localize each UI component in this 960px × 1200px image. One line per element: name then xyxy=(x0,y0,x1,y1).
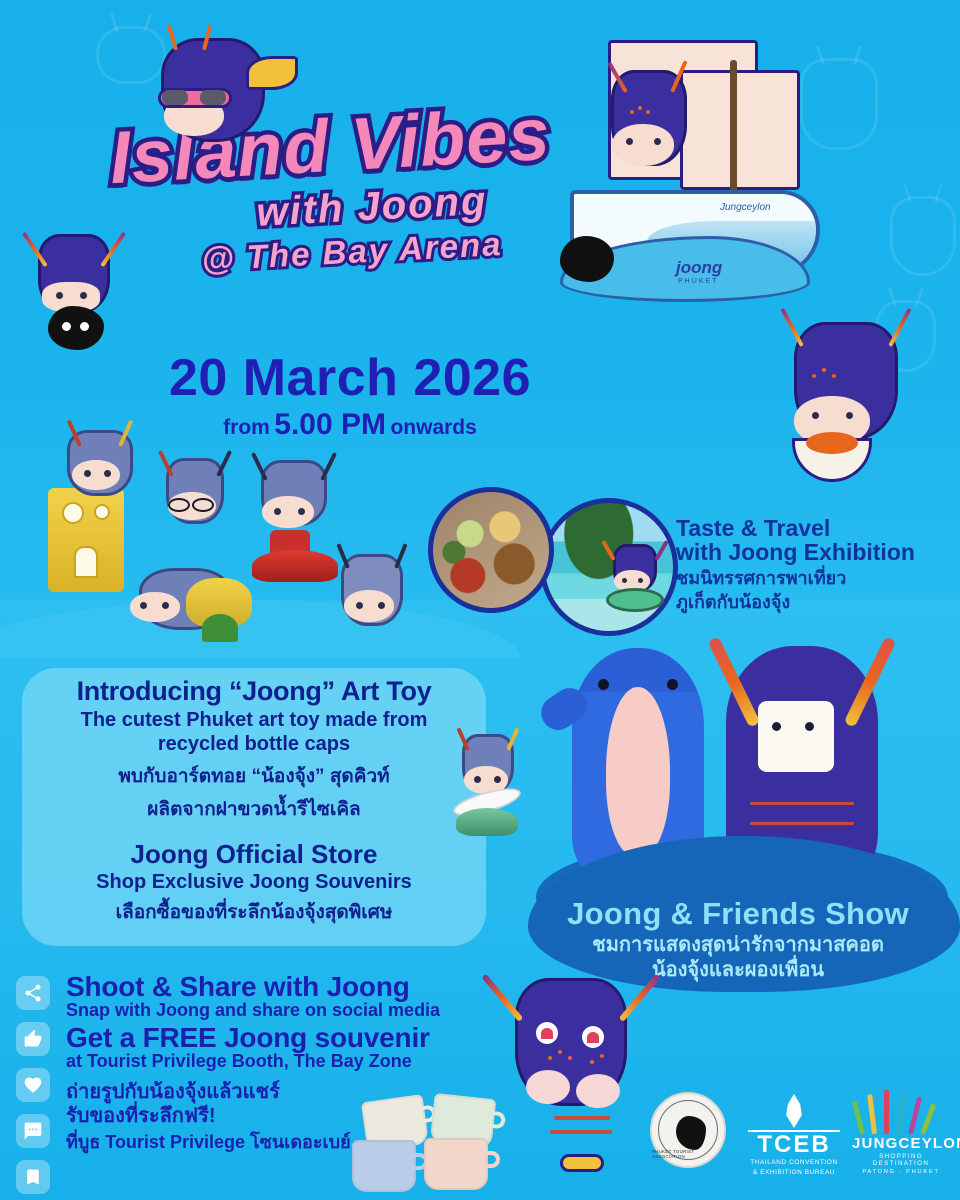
art-toy-figure-glasses xyxy=(152,452,238,562)
store-thai: เลือกซื้อของที่ระลึกน้องจุ้งสุดพิเศษ xyxy=(22,897,486,927)
seal-caption: PHUKET TOURIST ASSOCIATION xyxy=(652,1094,724,1166)
dolphin-belly xyxy=(606,687,669,856)
poster-canvas: Island Vibes with Joong @ The Bay Arena … xyxy=(0,0,960,1200)
art-toy-surfing xyxy=(450,730,526,840)
art-toy-sub-line2: recycled bottle caps xyxy=(22,733,486,755)
phuket-tourist-association-seal: PHUKET TOURIST ASSOCIATION xyxy=(650,1092,726,1168)
art-toy-figure-1 xyxy=(52,422,148,508)
joong-logo-sub: PHUKET xyxy=(678,278,718,285)
mascot-sunglasses xyxy=(118,30,308,160)
tceb-wordmark: TCEB xyxy=(748,1133,840,1157)
share-icon-column xyxy=(16,976,50,1194)
art-toy-heading: Introducing “Joong” Art Toy xyxy=(22,676,486,707)
jungceylon-wordmark: JUNGCEYLON xyxy=(852,1136,950,1151)
show-thai-line1: ชมการแสดงสุดน่ารักจากมาสคอต xyxy=(528,933,948,957)
mug-blue xyxy=(352,1140,416,1192)
joong-logo-main: joong xyxy=(676,258,722,278)
jungceylon-subline-2: PATONG · PHUKET xyxy=(852,1169,950,1175)
mascot-swimming-with-float xyxy=(600,538,670,616)
heart-icon[interactable] xyxy=(16,1068,50,1102)
mascot-holding-souvenir xyxy=(768,312,924,492)
wave-base xyxy=(456,808,518,836)
share-icon[interactable] xyxy=(16,976,50,1010)
mascot-boat-scene: Jungceylon joong PHUKET xyxy=(560,40,890,320)
sponsor-logos: PHUKET TOURIST ASSOCIATION TCEB THAILAND… xyxy=(650,1086,950,1186)
tceb-subline-1: THAILAND CONVENTION xyxy=(748,1159,840,1167)
share-heading-2: Get a FREE Joong souvenir xyxy=(66,1023,506,1052)
art-toy-text-block: Introducing “Joong” Art Toy The cutest P… xyxy=(22,676,486,927)
jungceylon-logo: JUNGCEYLON SHOPPING DESTINATION PATONG ·… xyxy=(852,1088,950,1175)
exhibition-block: Taste & Travel with Joong Exhibition ชมน… xyxy=(676,516,956,613)
exhibition-thai-line2: ภูเก็ตกับน้องจุ้ง xyxy=(676,592,956,613)
share-heading-1: Shoot & Share with Joong xyxy=(66,972,506,1001)
thumbs-up-icon[interactable] xyxy=(16,1022,50,1056)
tceb-flame-icon xyxy=(781,1094,807,1128)
art-toy-thai-line1: พบกับอาร์ตทอย “น้องจุ้ง” สุดคิวท์ xyxy=(22,765,486,790)
art-toy-photo-group xyxy=(30,392,440,654)
chat-bubble-icon[interactable] xyxy=(16,1114,50,1148)
exhibition-title-line2: with Joong Exhibition xyxy=(676,540,956,564)
dolphin-eye-right xyxy=(667,679,678,690)
ink-blob-decoration xyxy=(560,236,614,282)
art-toy-thai-line2: ผลิตจากฝาขวดน้ำรีไซเคิล xyxy=(22,798,486,823)
store-heading: Joong Official Store xyxy=(22,839,486,870)
boat-hull-brand: Jungceylon xyxy=(720,202,771,213)
photo-food-circle xyxy=(428,487,554,613)
plush-joong-face xyxy=(758,701,834,772)
mascot-heart-eyes xyxy=(486,968,656,1188)
blush-right xyxy=(576,1074,620,1108)
watermark-mascot-2 xyxy=(890,196,956,276)
art-toy-figure-5 xyxy=(326,546,418,650)
plush-joong-stripe-2 xyxy=(750,822,853,825)
turtle-float xyxy=(606,588,664,612)
dolphin-eye-left xyxy=(598,679,609,690)
share-sub-2: at Tourist Privilege Booth, The Bay Zone xyxy=(66,1052,506,1072)
plush-joong-eye-right xyxy=(805,722,814,731)
tceb-logo: TCEB THAILAND CONVENTION & EXHIBITION BU… xyxy=(748,1094,840,1177)
tceb-subline-2: & EXHIBITION BUREAU xyxy=(748,1169,840,1177)
store-sub: Shop Exclusive Joong Souvenirs xyxy=(22,871,486,894)
bookmark-icon[interactable] xyxy=(16,1160,50,1194)
art-toy-sub-line1: The cutest Phuket art toy made from xyxy=(22,709,486,731)
exhibition-title-line1: Taste & Travel xyxy=(676,516,956,540)
exhibition-thai-line1: ชมนิทรรศการพาเที่ยว xyxy=(676,568,956,589)
mug-peach xyxy=(424,1138,488,1190)
share-sub-1: Snap with Joong and share on social medi… xyxy=(66,1001,506,1021)
blush-left xyxy=(526,1070,570,1104)
mascot-with-ink-blob xyxy=(22,222,126,352)
jungceylon-sail-mark xyxy=(852,1088,950,1134)
jungceylon-subline-1: SHOPPING DESTINATION xyxy=(852,1153,950,1167)
plush-joong-eye-left xyxy=(772,722,781,731)
mascot-foot xyxy=(560,1154,604,1172)
art-toy-figure-pineapple xyxy=(110,552,260,648)
plush-joong-stripe-1 xyxy=(750,802,853,805)
show-heading: Joong & Friends Show xyxy=(528,896,948,932)
